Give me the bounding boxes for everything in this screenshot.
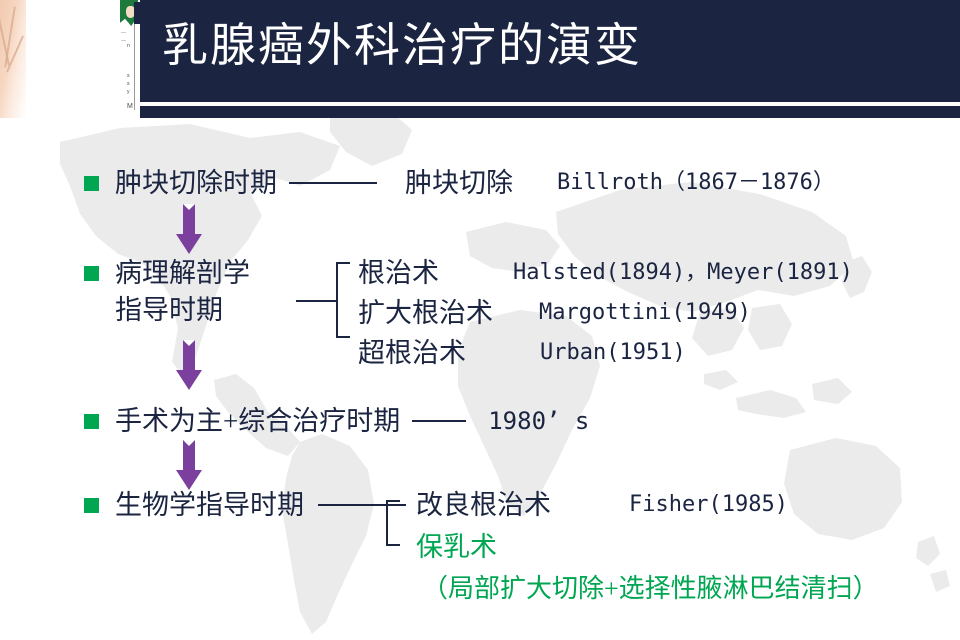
slide-canvas: n s s y M 乳腺癌外科治疗的演变 肿块切除时期 肿块切除 Billrot… xyxy=(0,0,960,640)
stage-4-note: （局部扩大切除+选择性腋淋巴结清扫） xyxy=(422,572,879,606)
stage-4-branch-2-procedure: 保乳术 xyxy=(416,530,497,564)
stage-2-label-line2: 指导时期 xyxy=(115,293,223,327)
stage-1-connector xyxy=(289,182,377,184)
page-title: 乳腺癌外科治疗的演变 xyxy=(162,18,642,74)
stage-2-branch-3-reference: Urban(1951) xyxy=(540,338,686,368)
bullet-square-4 xyxy=(84,498,99,513)
stage-2-branch-2-reference: Margottini(1949) xyxy=(539,298,751,328)
stage-2-branch-1: 根治术 Halsted(1894)，Meyer(1891) xyxy=(358,256,853,290)
thumb-micro-label-1: n xyxy=(127,44,130,49)
stage-4-branch-1: 改良根治术 Fisher(1985) xyxy=(416,488,788,522)
stage-2-branch-2-procedure: 扩大根治术 xyxy=(358,296,493,330)
down-arrow-icon-1 xyxy=(176,204,202,254)
stage-2-branch-1-procedure: 根治术 xyxy=(358,256,439,290)
down-arrow-icon-3 xyxy=(176,440,202,490)
stage-2-branch-1-reference: Halsted(1894)，Meyer(1891) xyxy=(513,258,853,288)
stage-4-note-row: （局部扩大切除+选择性腋淋巴结清扫） xyxy=(422,572,879,606)
stage-2-branch-3: 超根治术 Urban(1951) xyxy=(358,336,686,370)
stage-1-row: 肿块切除时期 肿块切除 Billroth（1867－1876） xyxy=(84,166,835,200)
stage-4-row: 生物学指导时期 xyxy=(84,488,406,522)
stage-1-procedure: 肿块切除 xyxy=(405,166,513,200)
stage-4-branch-1-procedure: 改良根治术 xyxy=(416,488,551,522)
bullet-square-3 xyxy=(84,414,99,429)
stage-2-label-line1: 病理解剖学 xyxy=(115,256,250,290)
stage-3-label: 手术为主+综合治疗时期 xyxy=(115,404,400,438)
down-arrow-icon-2 xyxy=(176,340,202,390)
title-underline-rule xyxy=(140,102,960,104)
stage-2-label-line2-row: 指导时期 xyxy=(115,293,223,327)
title-banner-lower-band xyxy=(140,106,960,118)
stage-2-branch-3-procedure: 超根治术 xyxy=(358,336,466,370)
stage-3-reference: 1980’ s xyxy=(488,406,589,436)
stage-4-branch-2: 保乳术 xyxy=(416,530,497,564)
white-gap xyxy=(26,0,130,118)
stage-2-bracket xyxy=(296,258,356,342)
stage-1-reference: Billroth（1867－1876） xyxy=(557,168,835,198)
thumb-micro-label-5: M xyxy=(127,104,133,109)
thumb-micro-label-2: s xyxy=(127,74,130,79)
stage-4-branch-1-reference: Fisher(1985) xyxy=(629,490,788,520)
stage-1-label: 肿块切除时期 xyxy=(115,166,277,200)
stage-2-row: 病理解剖学 xyxy=(84,256,250,290)
previous-slide-edge-image xyxy=(0,0,26,118)
thumbnail-divider xyxy=(134,24,135,110)
slide-thumbnail-fragment: n s s y M xyxy=(118,0,140,118)
thumb-micro-label-4: y xyxy=(127,90,130,95)
stage-4-bracket xyxy=(386,490,416,548)
stage-3-row: 手术为主+综合治疗时期 1980’ s xyxy=(84,404,589,438)
thumb-micro-label-3: s xyxy=(127,82,130,87)
stage-4-label: 生物学指导时期 xyxy=(115,488,304,522)
bullet-square-1 xyxy=(84,176,99,191)
slide-body: 肿块切除时期 肿块切除 Billroth（1867－1876） 病理解剖学 指导… xyxy=(0,118,960,640)
stage-2-branch-2: 扩大根治术 Margottini(1949) xyxy=(358,296,751,330)
bullet-square-2 xyxy=(84,266,99,281)
title-banner: 乳腺癌外科治疗的演变 xyxy=(140,0,960,104)
stage-3-connector xyxy=(412,420,466,422)
